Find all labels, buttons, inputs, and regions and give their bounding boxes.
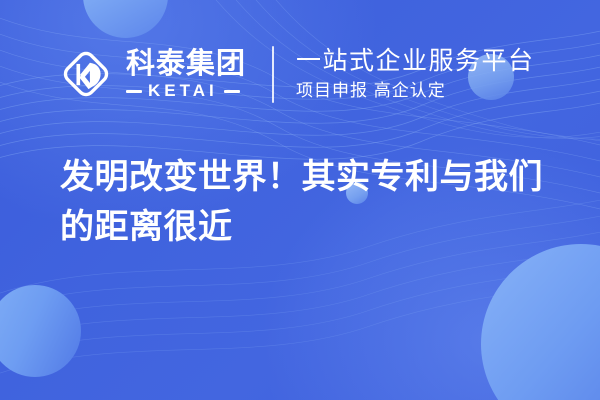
logo-company-name-en: KETAI [142,82,224,100]
banner-headline: 发明改变世界！其实专利与我们的距离很近 [60,152,560,252]
logo-wordmark: 科泰集团 KETAI [126,48,246,100]
logo-company-name-cn: 科泰集团 [126,48,246,80]
vertical-divider-icon [272,46,274,103]
logo-dash-left-icon [126,90,142,93]
promo-banner: 科泰集团 KETAI 一站式企业服务平台 项目申报 高企认定 发明改变世界！其实… [0,0,600,400]
logo-company-name-en-row: KETAI [126,82,246,100]
tagline-sub: 项目申报 高企认定 [296,79,535,103]
tagline-main: 一站式企业服务平台 [296,46,535,76]
logo-dash-right-icon [224,90,240,93]
company-logo[interactable]: 科泰集团 KETAI [58,46,246,102]
banner-header: 科泰集团 KETAI 一站式企业服务平台 项目申报 高企认定 [0,38,600,110]
tagline-block: 一站式企业服务平台 项目申报 高企认定 [296,46,535,103]
ketai-diamond-kd-logo-icon [58,46,114,102]
